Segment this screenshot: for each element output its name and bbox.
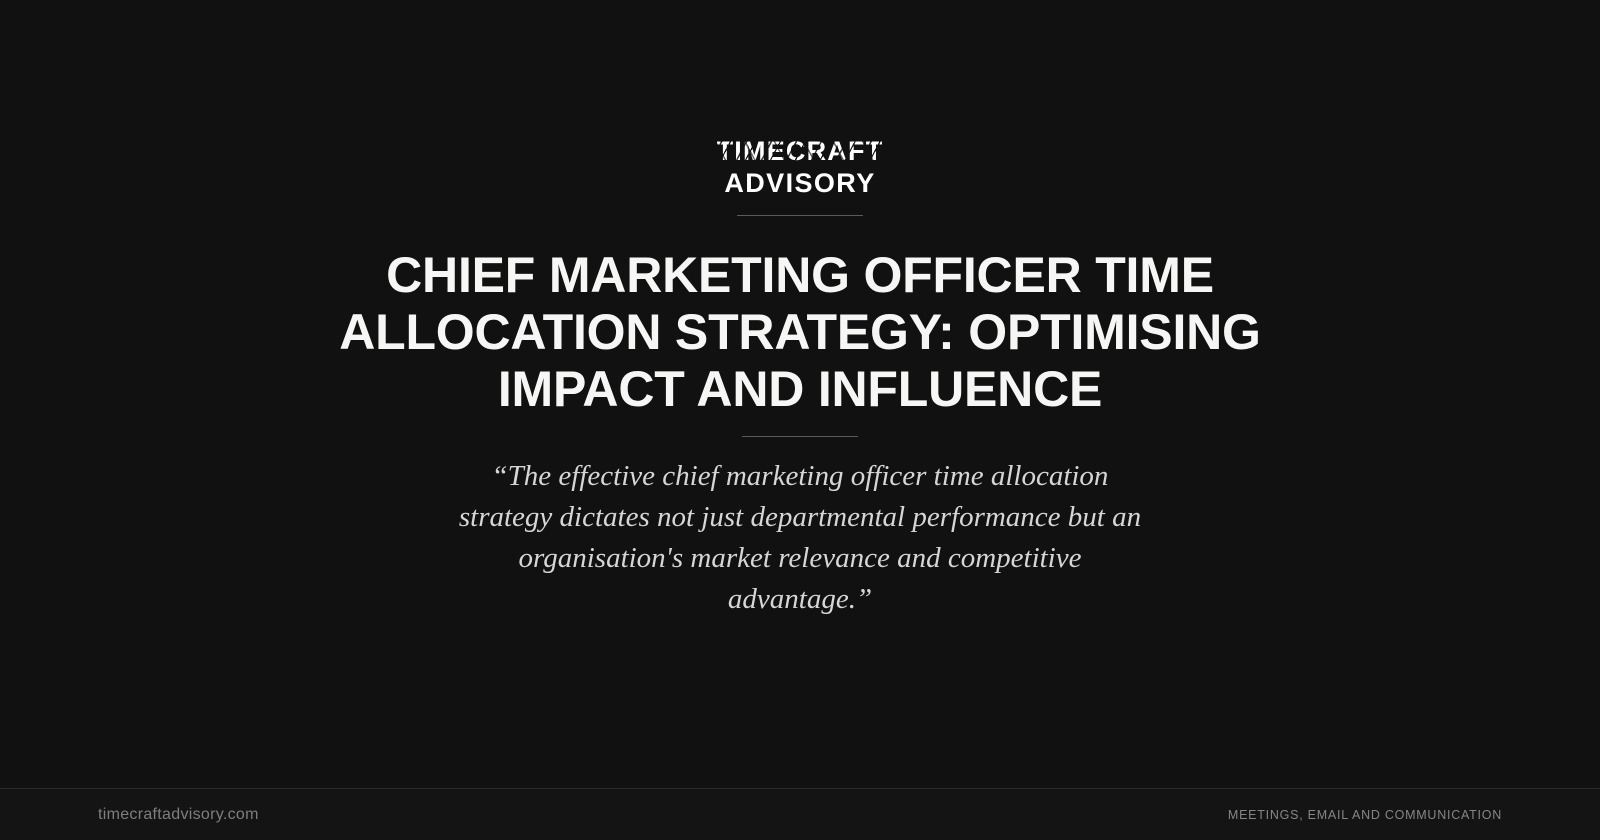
slide-footer: timecraftadvisory.com MEETINGS, EMAIL AN…: [0, 788, 1600, 840]
logo-wordmark-primary: TIMECRAFT: [717, 138, 884, 165]
logo-wordmark-secondary: ADVISORY: [724, 170, 875, 197]
slide-quote: “The effective chief marketing officer t…: [450, 456, 1150, 620]
presentation-slide: TIMECRAFT ADVISORY CHIEF MARKETING OFFIC…: [0, 0, 1600, 840]
footer-website: timecraftadvisory.com: [98, 806, 259, 824]
slide-title: CHIEF MARKETING OFFICER TIME ALLOCATION …: [310, 247, 1290, 418]
divider-under-title: [742, 436, 858, 437]
slide-content: TIMECRAFT ADVISORY CHIEF MARKETING OFFIC…: [0, 0, 1600, 788]
brand-logo: TIMECRAFT ADVISORY: [717, 138, 884, 197]
footer-section-label: MEETINGS, EMAIL AND COMMUNICATION: [1228, 808, 1502, 822]
divider-under-logo: [737, 215, 863, 216]
